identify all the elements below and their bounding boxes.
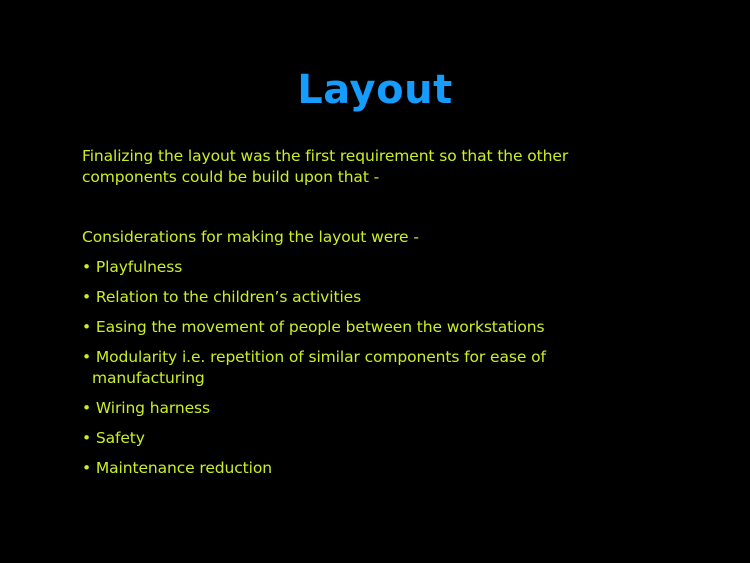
list-item-label: Easing the movement of people between th… bbox=[96, 318, 545, 336]
presentation-slide: Layout Finalizing the layout was the fir… bbox=[0, 0, 750, 563]
list-item: • Maintenance reduction bbox=[82, 458, 642, 479]
list-item: • Playfulness bbox=[82, 257, 642, 278]
paragraph-spacer bbox=[82, 188, 642, 227]
considerations-lead-line: Considerations for making the layout wer… bbox=[82, 227, 642, 248]
bullet-icon: • bbox=[82, 318, 91, 336]
bullet-icon: • bbox=[82, 348, 91, 366]
list-item: • Wiring harness bbox=[82, 398, 642, 419]
slide-body: Finalizing the layout was the first requ… bbox=[82, 146, 642, 479]
list-item-label: Maintenance reduction bbox=[96, 459, 272, 477]
bullet-icon: • bbox=[82, 258, 91, 276]
list-item: • Easing the movement of people between … bbox=[82, 317, 642, 338]
bullet-icon: • bbox=[82, 288, 91, 306]
list-item-label: Safety bbox=[96, 429, 145, 447]
list-item-label: Relation to the children’s activities bbox=[96, 288, 361, 306]
list-item: • Modularity i.e. repetition of similar … bbox=[82, 347, 642, 389]
page-title: Layout bbox=[0, 66, 750, 114]
bullet-icon: • bbox=[82, 459, 91, 477]
bullet-icon: • bbox=[82, 399, 91, 417]
list-item-label: Modularity i.e. repetition of similar co… bbox=[92, 348, 546, 387]
list-item: • Safety bbox=[82, 428, 642, 449]
bullet-icon: • bbox=[82, 429, 91, 447]
considerations-list: • Playfulness • Relation to the children… bbox=[82, 257, 642, 479]
intro-paragraph: Finalizing the layout was the first requ… bbox=[82, 146, 642, 188]
list-item: • Relation to the children’s activities bbox=[82, 287, 642, 308]
list-item-label: Wiring harness bbox=[96, 399, 210, 417]
list-item-label: Playfulness bbox=[96, 258, 182, 276]
